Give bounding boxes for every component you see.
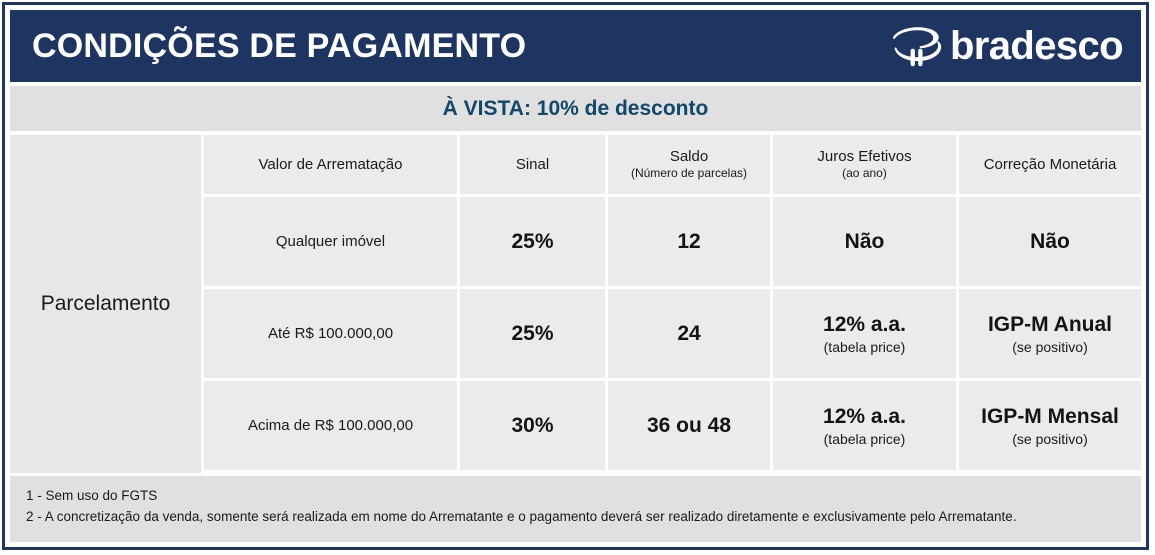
cell-sinal: 25% xyxy=(460,197,605,286)
cell-juros: Não xyxy=(773,197,956,286)
cell-correcao: IGP-M Anual (se positivo) xyxy=(959,289,1141,378)
bradesco-wordmark: bradesco xyxy=(950,26,1123,66)
cell-valor: Acima de R$ 100.000,00 xyxy=(204,381,457,470)
cell-sinal: 25% xyxy=(460,289,605,378)
cell-saldo: 24 xyxy=(608,289,770,378)
page-title: CONDIÇÕES DE PAGAMENTO xyxy=(32,27,526,66)
conditions-table: Parcelamento Valor de Arrematação Sinal … xyxy=(10,135,1141,473)
cell-valor: Até R$ 100.000,00 xyxy=(204,289,457,378)
cell-saldo: 12 xyxy=(608,197,770,286)
row-group-label: Parcelamento xyxy=(41,292,171,316)
cell-correcao: IGP-M Mensal (se positivo) xyxy=(959,381,1141,470)
payment-conditions-card: CONDIÇÕES DE PAGAMENTO bradesco À VISTA:… xyxy=(2,2,1149,550)
footnote-2: 2 - A concretização da venda, somente se… xyxy=(26,507,1125,528)
footnotes: 1 - Sem uso do FGTS 2 - A concretização … xyxy=(10,476,1141,542)
cell-juros: 12% a.a. (tabela price) xyxy=(773,289,956,378)
column-header-saldo: Saldo (Número de parcelas) xyxy=(608,135,770,194)
a-vista-band: À VISTA: 10% de desconto xyxy=(10,86,1141,131)
bradesco-logo: bradesco xyxy=(891,22,1123,70)
column-header-valor: Valor de Arrematação xyxy=(204,135,457,194)
cell-juros: 12% a.a. (tabela price) xyxy=(773,381,956,470)
column-header-sinal: Sinal xyxy=(460,135,605,194)
cell-valor: Qualquer imóvel xyxy=(204,197,457,286)
column-header-correcao: Correção Monetária xyxy=(959,135,1141,194)
table-row: Até R$ 100.000,00 25% 24 12% a.a. (tabel… xyxy=(204,289,1141,378)
a-vista-text: À VISTA: 10% de desconto xyxy=(443,97,709,121)
table-row: Acima de R$ 100.000,00 30% 36 ou 48 12% … xyxy=(204,381,1141,470)
table-row: Qualquer imóvel 25% 12 Não Não xyxy=(204,197,1141,286)
table-header-row: Valor de Arrematação Sinal Saldo (Número… xyxy=(204,135,1141,194)
card-header: CONDIÇÕES DE PAGAMENTO bradesco xyxy=(10,10,1141,82)
cell-correcao: Não xyxy=(959,197,1141,286)
footnote-1: 1 - Sem uso do FGTS xyxy=(26,486,1125,507)
cell-saldo: 36 ou 48 xyxy=(608,381,770,470)
table-grid: Valor de Arrematação Sinal Saldo (Número… xyxy=(204,135,1141,473)
row-group-label-cell: Parcelamento xyxy=(10,135,201,473)
cell-sinal: 30% xyxy=(460,381,605,470)
bradesco-tree-icon xyxy=(891,22,943,70)
column-header-juros: Juros Efetivos (ao ano) xyxy=(773,135,956,194)
